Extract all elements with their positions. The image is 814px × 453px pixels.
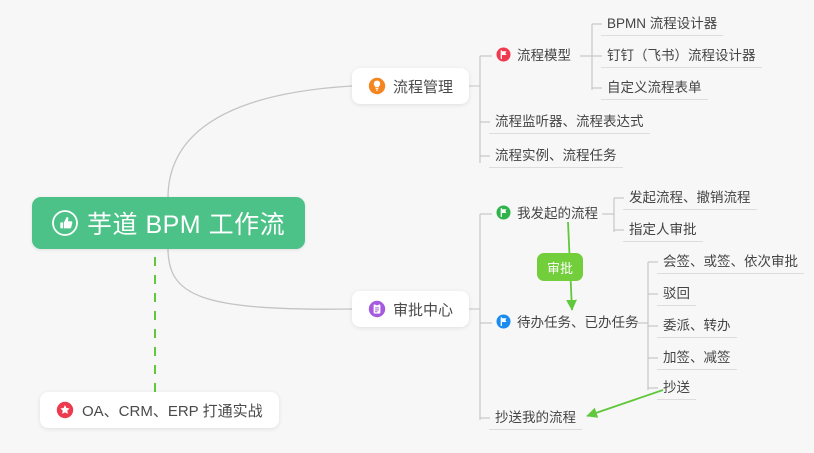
thumbs-up-icon [52,210,78,236]
node-label-add-remove-sign: 加签、减签 [663,346,731,366]
node-start-cancel-process[interactable]: 发起流程、撤销流程 [623,186,757,210]
branch-label-process-management: 流程管理 [393,76,453,97]
node-label-my-initiated: 我发起的流程 [517,202,598,222]
flag-icon [496,47,511,62]
node-my-initiated[interactable]: 我发起的流程 [490,202,604,226]
node-dingtalk-designer[interactable]: 钉钉（飞书）流程设计器 [601,44,762,68]
note-card-label: OA、CRM、ERP 打通实战 [82,400,263,421]
node-assignee-approval[interactable]: 指定人审批 [623,218,703,242]
node-label-assignee-approval: 指定人审批 [629,218,697,238]
clipboard-icon [368,300,386,318]
node-label-process-model: 流程模型 [517,44,571,64]
node-custom-form[interactable]: 自定义流程表单 [601,76,708,100]
node-process-listener[interactable]: 流程监听器、流程表达式 [489,110,650,134]
node-label-custom-form: 自定义流程表单 [607,76,702,96]
node-process-instance[interactable]: 流程实例、流程任务 [489,144,623,168]
node-cc[interactable]: 抄送 [657,376,696,400]
link-root-to-process-management [168,86,352,198]
flag-icon [496,314,511,329]
node-label-bpmn-designer: BPMN 流程设计器 [607,12,717,32]
node-todo-done-tasks[interactable]: 待办任务、已办任务 [490,311,645,335]
link-root-to-approval-center [168,248,352,309]
chip-approval[interactable]: 审批 [537,253,583,281]
flag-icon [496,205,511,220]
node-cc-to-me[interactable]: 抄送我的流程 [489,406,582,430]
node-label-cc-to-me: 抄送我的流程 [495,406,576,426]
mindmap-canvas: 芋道 BPM 工作流 流程管理 审批中心 [0,0,814,453]
node-label-dingtalk-designer: 钉钉（飞书）流程设计器 [607,44,756,64]
note-card-integration[interactable]: OA、CRM、ERP 打通实战 [40,392,279,428]
node-label-multi-sign: 会签、或签、依次审批 [663,250,798,270]
node-label-start-cancel-process: 发起流程、撤销流程 [629,186,751,206]
node-multi-sign[interactable]: 会签、或签、依次审批 [657,250,804,274]
star-icon [56,401,74,419]
node-bpmn-designer[interactable]: BPMN 流程设计器 [601,12,723,36]
node-label-delegate-transfer: 委派、转办 [663,314,731,334]
node-label-todo-done-tasks: 待办任务、已办任务 [517,311,639,331]
branch-process-management[interactable]: 流程管理 [352,68,469,104]
root-node[interactable]: 芋道 BPM 工作流 [32,197,305,249]
node-reject[interactable]: 驳回 [657,282,696,306]
root-label: 芋道 BPM 工作流 [87,205,285,241]
annotation-arrow-cc [587,390,663,416]
chip-label-approval: 审批 [547,258,573,277]
node-label-process-instance: 流程实例、流程任务 [495,144,617,164]
branch-label-approval-center: 审批中心 [393,299,453,320]
node-label-process-listener: 流程监听器、流程表达式 [495,110,644,130]
node-label-reject: 驳回 [663,282,690,302]
node-delegate-transfer[interactable]: 委派、转办 [657,314,737,338]
lightbulb-icon [368,77,386,95]
node-process-model[interactable]: 流程模型 [490,44,577,68]
node-add-remove-sign[interactable]: 加签、减签 [657,346,737,370]
branch-approval-center[interactable]: 审批中心 [352,291,469,327]
node-label-cc: 抄送 [663,376,690,396]
